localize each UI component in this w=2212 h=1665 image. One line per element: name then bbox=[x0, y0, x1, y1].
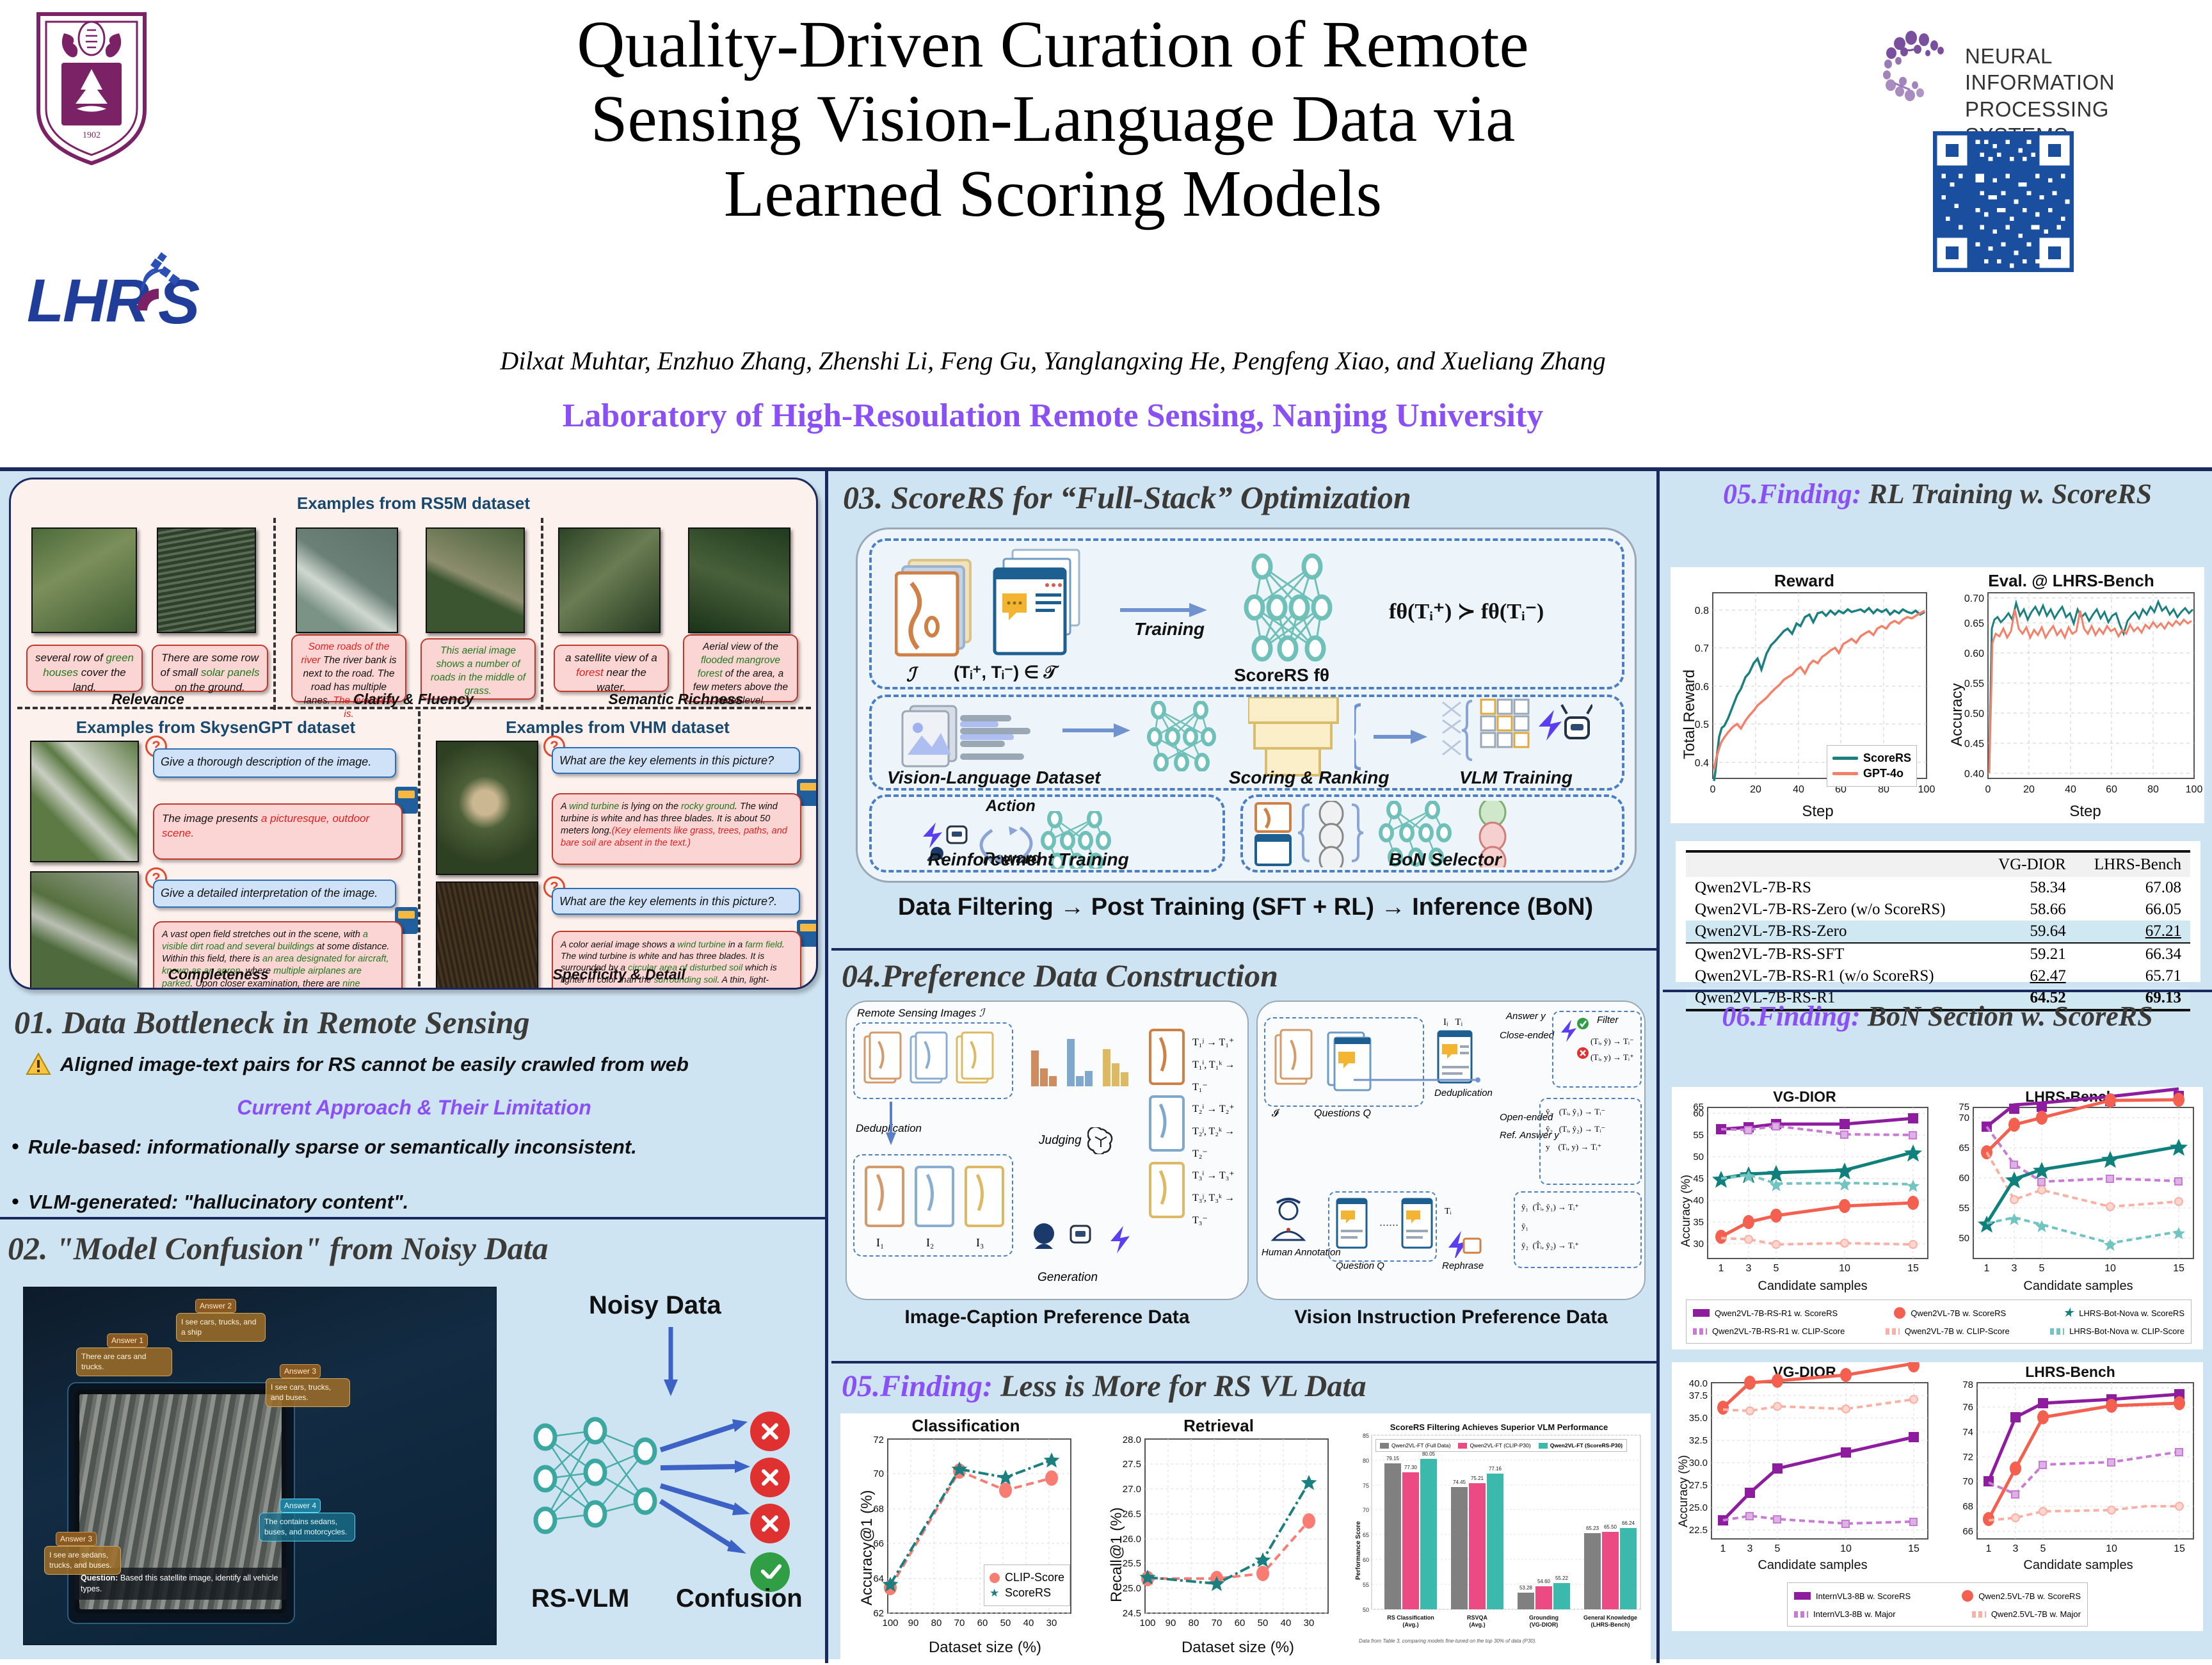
table-row: Qwen2VL-7B-RS-Zero59.6467.21 bbox=[1686, 921, 2190, 943]
svg-text:(LHRS-Bench): (LHRS-Bench) bbox=[1591, 1621, 1630, 1628]
svg-text:3: 3 bbox=[2012, 1263, 2017, 1274]
table-cell-value: 67.21 bbox=[2075, 921, 2190, 943]
svg-text:90: 90 bbox=[908, 1618, 919, 1629]
section-04-preference-data: 04.Preference Data Construction Remote S… bbox=[831, 948, 1660, 1358]
svg-text:30: 30 bbox=[1304, 1618, 1315, 1629]
scorers-filtering-bar-chart: ScoreRS Filtering Achieves Superior VLM … bbox=[1350, 1420, 1648, 1657]
section-05-mid-title: 05.Finding: Less is More for RS VL Data bbox=[842, 1370, 1660, 1403]
section-05-rl-training: 05.Finding: RL Training w. ScoreRS Rewar… bbox=[1663, 471, 2212, 830]
svg-text:90: 90 bbox=[1166, 1618, 1176, 1629]
svg-text:0: 0 bbox=[1985, 784, 1991, 795]
bon-top-legend: Qwen2VL-7B-RS-R1 w. ScoreRS Qwen2VL-7B w… bbox=[1686, 1299, 2192, 1344]
svg-text:S: S bbox=[158, 266, 200, 337]
svg-text:70: 70 bbox=[954, 1618, 965, 1629]
question-bubble: Give a detailed interpretation of the im… bbox=[153, 880, 396, 908]
down-arrow-icon bbox=[884, 1102, 898, 1146]
bracket-arrow-icon bbox=[1354, 701, 1431, 771]
svg-text:0.55: 0.55 bbox=[1964, 679, 1984, 689]
svg-text:0.6: 0.6 bbox=[1695, 682, 1709, 693]
bon-top-charts: VG-DIOR Accuracy (%) Candidate samples 3… bbox=[1672, 1087, 2203, 1349]
bullet-dot-icon: • bbox=[12, 1191, 19, 1212]
rs5m-heading: Examples from RS5M dataset bbox=[11, 494, 816, 513]
results-table: VG-DIOR LHRS-Bench Qwen2VL-7B-RS58.3467.… bbox=[1686, 850, 2190, 1011]
criterion-label: Completeness bbox=[26, 966, 410, 983]
svg-text:68: 68 bbox=[1962, 1501, 1973, 1512]
section-03-title: 03. ScoreRS for “Full-Stack” Optimizatio… bbox=[843, 480, 1660, 515]
table-cell-value: 65.71 bbox=[2075, 965, 2190, 987]
svg-text:60: 60 bbox=[2106, 784, 2117, 795]
skysengpt-heading: Examples from SkysenGPT dataset bbox=[17, 718, 414, 737]
svg-text:35: 35 bbox=[1693, 1217, 1704, 1228]
down-arrow-icon bbox=[663, 1327, 678, 1397]
svg-text:65: 65 bbox=[1363, 1532, 1369, 1538]
svg-text:70: 70 bbox=[873, 1468, 884, 1479]
question-cards-icon: ...... bbox=[1334, 1196, 1437, 1258]
filter-formulas: (Tᵢ, ŷ) → Tᵢ⁻(Tᵢ, y) → Tᵢ⁺ bbox=[1591, 1034, 1634, 1065]
fullstack-pipeline-diagram: ℐ (Tᵢ⁺, Tᵢ⁻) ∈ 𝒯 Training bbox=[856, 527, 1637, 883]
image-1-label: I₁ bbox=[876, 1236, 884, 1250]
filter-label: Filter bbox=[1597, 1015, 1618, 1026]
svg-text:65.50: 65.50 bbox=[1604, 1524, 1617, 1530]
bon-vgdior-top-plot: 303540 45505560 65 135 1015 bbox=[1672, 1087, 1937, 1298]
svg-text:65: 65 bbox=[1693, 1102, 1704, 1113]
svg-text:65: 65 bbox=[1959, 1143, 1969, 1154]
symbol-preference-pairs: (Tᵢ⁺, Tᵢ⁻) ∈ 𝒯 bbox=[954, 663, 1057, 683]
rephrase-icon bbox=[1442, 1219, 1488, 1258]
question-bubble: Give a thorough description of the image… bbox=[153, 748, 396, 778]
criterion-label: Clarify & Fluency bbox=[291, 691, 536, 708]
image-group-icon bbox=[861, 1029, 1008, 1093]
svg-text:70: 70 bbox=[1212, 1618, 1222, 1629]
svg-text:70: 70 bbox=[1363, 1507, 1369, 1513]
scorers-label: ScoreRS fθ bbox=[1234, 665, 1329, 686]
svg-text:1: 1 bbox=[1720, 1543, 1726, 1554]
legend-label: GPT-4o bbox=[1863, 767, 1903, 780]
svg-text:65.23: 65.23 bbox=[1586, 1525, 1599, 1531]
bon-stage-label: BoN Selector bbox=[1389, 849, 1502, 870]
question-bubble: What are the key elements in this pictur… bbox=[552, 888, 800, 915]
svg-text:0.4: 0.4 bbox=[1695, 758, 1709, 769]
svg-text:40: 40 bbox=[1693, 1195, 1704, 1206]
nju-year: 1902 bbox=[83, 131, 100, 140]
example-image-4 bbox=[426, 527, 525, 633]
svg-text:15: 15 bbox=[1907, 1263, 1919, 1274]
filter-check-icons bbox=[1556, 1015, 1594, 1085]
bullet-dot-icon: • bbox=[12, 1136, 19, 1157]
bon-lhrs-bottom-chart: LHRS-Bench Candidate samples 666870 7 bbox=[1937, 1362, 2203, 1580]
images-and-questions-icon bbox=[1272, 1024, 1425, 1100]
confusion-label: Confusion bbox=[676, 1584, 803, 1613]
section-06-title: 06.Finding: BoN Section w. ScoreRS bbox=[1663, 992, 2212, 1032]
svg-text:40: 40 bbox=[1281, 1618, 1292, 1629]
right-column: 05.Finding: RL Training w. ScoreRS Rewar… bbox=[1663, 471, 2212, 1663]
legend-label: Qwen2VL-7B-RS-R1 w. ScoreRS bbox=[1715, 1308, 1838, 1318]
svg-text:60: 60 bbox=[1959, 1173, 1969, 1184]
legend-marker-clip bbox=[990, 1573, 1000, 1583]
divider-4 bbox=[418, 711, 421, 986]
svg-text:37.5: 37.5 bbox=[1689, 1390, 1708, 1401]
bon-lhrs-top-chart: LHRS-Bench Candidate samples 505560 6570… bbox=[1937, 1087, 2203, 1298]
vlm-training-icon bbox=[1439, 698, 1592, 775]
flow-connector-icon bbox=[1354, 1074, 1482, 1086]
limitation-1: Rule-based: informationally sparse or se… bbox=[28, 1136, 637, 1159]
answer-tag: Answer 2 bbox=[195, 1299, 236, 1313]
svg-text:74: 74 bbox=[1962, 1427, 1973, 1438]
svg-text:80: 80 bbox=[2147, 784, 2159, 795]
svg-text:24.5: 24.5 bbox=[1123, 1608, 1141, 1619]
svg-text:5: 5 bbox=[1774, 1263, 1779, 1274]
table-cell-model: Qwen2VL-7B-RS-R1 (w/o ScoreRS) bbox=[1686, 965, 1981, 987]
svg-text:35.0: 35.0 bbox=[1689, 1413, 1708, 1424]
section-04-number: 04. bbox=[842, 958, 882, 993]
caption-box: There are some row of small solar panels… bbox=[152, 645, 268, 692]
page-title: Quality-Driven Curation of Remote Sensin… bbox=[269, 8, 1837, 231]
symbol-I: 𝓘 bbox=[1272, 1108, 1279, 1120]
svg-text:10: 10 bbox=[2104, 1263, 2116, 1274]
svg-text:80: 80 bbox=[1189, 1618, 1199, 1629]
results-table-panel: VG-DIOR LHRS-Bench Qwen2VL-7B-RS58.3467.… bbox=[1676, 841, 2200, 982]
table-cell-value: 67.08 bbox=[2075, 877, 2190, 899]
section-01-data-bottleneck: 01. Data Bottleneck in Remote Sensing Al… bbox=[0, 996, 828, 1233]
answer-text: I see cars, trucks, and buses. bbox=[266, 1378, 350, 1407]
svg-text:100: 100 bbox=[1918, 784, 1935, 795]
generation-label: Generation bbox=[1038, 1271, 1098, 1285]
bon-bottom-charts: VG-DIOR Accuracy (%) Candidate samples 2… bbox=[1672, 1362, 2203, 1631]
wrong-answer-icon bbox=[750, 1458, 790, 1497]
svg-text:RSVQA: RSVQA bbox=[1467, 1614, 1488, 1621]
question-Q-label: Question Q bbox=[1336, 1260, 1384, 1271]
training-label: Training bbox=[1134, 619, 1205, 639]
qr-code[interactable] bbox=[1933, 131, 2074, 272]
svg-text:27.5: 27.5 bbox=[1123, 1459, 1141, 1470]
legend-label: Qwen2VL-7B-RS-R1 w. CLIP-Score bbox=[1712, 1326, 1845, 1336]
bon-vgdior-bottom-plot: 22.525.027.5 30.032.535.0 37.540.0 135 1… bbox=[1672, 1362, 1937, 1580]
col-header-vgdior: VG-DIOR bbox=[1981, 851, 2075, 877]
table-cell-model: Qwen2VL-7B-RS-Zero (w/o ScoreRS) bbox=[1686, 899, 1981, 921]
answer-text: I see are sedans, trucks, and buses. bbox=[44, 1546, 121, 1575]
vision-instruction-pref-caption: Vision Instruction Preference Data bbox=[1254, 1307, 1648, 1328]
svg-text:55: 55 bbox=[1959, 1203, 1969, 1214]
svg-text:60: 60 bbox=[977, 1618, 988, 1629]
svg-text:77.16: 77.16 bbox=[1489, 1466, 1502, 1472]
svg-text:54.60: 54.60 bbox=[1537, 1579, 1551, 1584]
svg-text:0.50: 0.50 bbox=[1964, 709, 1984, 720]
answer-bubble: A wind turbine is lying on the rocky gro… bbox=[552, 793, 801, 865]
example-image-1 bbox=[31, 527, 137, 633]
neurips-logo-icon: NEURAL INFORMATION PROCESSING SYSTEMS bbox=[1882, 29, 2183, 112]
svg-text:10: 10 bbox=[1839, 1263, 1850, 1274]
example-image-6 bbox=[688, 527, 790, 633]
legend-label: ScoreRS bbox=[1863, 752, 1911, 765]
vhm-heading: Examples from VHM dataset bbox=[423, 718, 812, 737]
generator-models-icon bbox=[1030, 1213, 1139, 1258]
section-05-right-heading: RL Training w. ScoreRS bbox=[1861, 478, 2152, 510]
svg-text:0.8: 0.8 bbox=[1695, 606, 1709, 616]
svg-text:55.22: 55.22 bbox=[1555, 1575, 1569, 1581]
right-arrow-icon bbox=[1062, 721, 1133, 739]
noisy-data-label: Noisy Data bbox=[589, 1291, 721, 1320]
table-row: Qwen2VL-7B-RS-R1 (w/o ScoreRS)62.4765.71 bbox=[1686, 965, 2190, 987]
legend-label: Qwen2VL-FT (ScoreRS-P30) bbox=[1550, 1442, 1623, 1449]
svg-text:3: 3 bbox=[1747, 1543, 1753, 1554]
section-06-heading: BoN Section w. ScoreRS bbox=[1861, 1001, 2153, 1032]
svg-text:0.45: 0.45 bbox=[1964, 739, 1984, 750]
section-05-mid-number: 05.Finding: bbox=[842, 1369, 993, 1403]
pipeline-caption: Data Filtering → Post Training (SFT + RL… bbox=[831, 894, 1660, 921]
example-image-3 bbox=[296, 527, 398, 633]
svg-text:75: 75 bbox=[1363, 1483, 1369, 1489]
affiliation: Laboratory of High-Resoulation Remote Se… bbox=[269, 397, 1837, 435]
svg-text:1: 1 bbox=[1719, 1263, 1724, 1274]
rl-charts: Reward Total Reward Step 0.40.50.6 0.70.… bbox=[1671, 567, 2204, 823]
svg-text:64: 64 bbox=[873, 1573, 884, 1584]
answer-text: The contains sedans, buses, and motorcyc… bbox=[259, 1513, 355, 1541]
right-arrow-icon bbox=[1120, 601, 1210, 619]
svg-text:50: 50 bbox=[1000, 1618, 1011, 1629]
current-approach-subheading: Current Approach & Their Limitation bbox=[0, 1096, 828, 1120]
answer-text: I see cars, trucks, and a ship bbox=[176, 1313, 266, 1342]
example-image-7 bbox=[30, 741, 139, 862]
legend-label: InternVL3-8B w. ScoreRS bbox=[1816, 1591, 1911, 1601]
question-label: Question: bbox=[81, 1573, 118, 1582]
scorers-network-icon bbox=[1229, 549, 1350, 668]
svg-text:45: 45 bbox=[1693, 1173, 1704, 1184]
preference-formula: fθ(Tᵢ⁺) ≻ fθ(Tᵢ⁻) bbox=[1389, 599, 1544, 624]
formula-group-2: T₂ⁱ → T₂⁺T₂ʲ, T₂ᵏ → T₂⁻ bbox=[1192, 1098, 1247, 1166]
svg-text:30.0: 30.0 bbox=[1689, 1458, 1708, 1468]
nanjing-university-logo-icon: 1902 bbox=[31, 8, 152, 168]
symbol-image-set: ℐ bbox=[906, 664, 915, 686]
wrong-answer-icon bbox=[750, 1412, 790, 1451]
svg-text:......: ...... bbox=[1379, 1216, 1399, 1228]
svg-text:72: 72 bbox=[1962, 1452, 1973, 1463]
rephrase-label: Rephrase bbox=[1442, 1260, 1484, 1271]
svg-text:40: 40 bbox=[2065, 784, 2076, 795]
svg-text:20: 20 bbox=[1750, 784, 1761, 795]
svg-text:76: 76 bbox=[1962, 1402, 1973, 1413]
criterion-label: Specificity & Detail bbox=[427, 966, 811, 983]
list-item: • VLM-generated: "hallucinatory content"… bbox=[12, 1191, 818, 1214]
reward-chart: Reward Total Reward Step 0.40.50.6 0.70.… bbox=[1671, 567, 1938, 823]
svg-text:25.5: 25.5 bbox=[1123, 1558, 1141, 1569]
remote-sensing-images-label: Remote Sensing Images ℐ bbox=[857, 1007, 984, 1020]
retrieval-plot: 24.525.025.5 26.026.527.0 27.528.0 10090… bbox=[1094, 1413, 1343, 1659]
svg-text:0.5: 0.5 bbox=[1695, 720, 1709, 730]
example-image-9 bbox=[436, 741, 538, 875]
table-cell-model: Qwen2VL-7B-RS bbox=[1686, 877, 1981, 899]
deduplication-label-right: Deduplication bbox=[1434, 1088, 1493, 1098]
legend-marker-scorers: ★ bbox=[990, 1588, 1000, 1598]
svg-text:72: 72 bbox=[873, 1435, 884, 1445]
answer-bubble: The image presents a picturesque, outdoo… bbox=[153, 803, 403, 860]
legend-label: Qwen2.5VL-7B w. ScoreRS bbox=[1978, 1591, 2081, 1601]
rl-stage-label: Reinforcement Training bbox=[928, 849, 1129, 870]
table-row: Qwen2VL-7B-RS58.3467.08 bbox=[1686, 877, 2190, 899]
section-06-number: 06.Finding: bbox=[1722, 1001, 1860, 1032]
svg-text:80.05: 80.05 bbox=[1422, 1451, 1436, 1457]
svg-text:0.60: 0.60 bbox=[1964, 648, 1984, 659]
answer-tag: Answer 4 bbox=[280, 1499, 321, 1513]
svg-text:25.0: 25.0 bbox=[1123, 1583, 1141, 1594]
openai-logo-icon bbox=[1087, 1127, 1114, 1154]
image-caption-pref-caption: Image-Caption Preference Data bbox=[844, 1307, 1250, 1328]
section-02-heading: "Model Confusion" from Noisy Data bbox=[48, 1230, 549, 1266]
caption-box: a satellite view of a forest near the wa… bbox=[554, 645, 669, 692]
svg-text:100: 100 bbox=[1139, 1618, 1155, 1629]
svg-text:30: 30 bbox=[1693, 1239, 1704, 1250]
list-item: • Rule-based: informationally sparse or … bbox=[12, 1136, 818, 1159]
example-image-5 bbox=[558, 527, 661, 633]
image-2-label: I₂ bbox=[926, 1236, 934, 1250]
vision-instruction-pref-diagram: 𝓘 Questions Q Iᵢ Tᵢ Deduplication Answer… bbox=[1256, 1001, 1646, 1300]
ranking-funnel-icon bbox=[1248, 697, 1344, 776]
question-bubble: What are the key elements in this pictur… bbox=[552, 747, 800, 774]
svg-text:32.5: 32.5 bbox=[1689, 1435, 1708, 1446]
table-cell-model: Qwen2VL-7B-RS-Zero bbox=[1686, 921, 1981, 943]
criterion-label: Relevance bbox=[26, 691, 269, 708]
close-ended-label: Close-ended bbox=[1500, 1030, 1554, 1041]
bar-chart-note: Data from Table 3, comparing models fine… bbox=[1359, 1638, 1537, 1644]
svg-text:10: 10 bbox=[2106, 1543, 2117, 1554]
table-row: Qwen2VL-7B-RS-Zero (w/o ScoreRS)58.6666.… bbox=[1686, 899, 2190, 921]
answer-y-label: Answer y bbox=[1506, 1011, 1546, 1022]
table-cell-value: 59.64 bbox=[1981, 921, 2075, 943]
table-cell-value: 66.34 bbox=[2075, 943, 2190, 965]
svg-text:74.45: 74.45 bbox=[1453, 1479, 1466, 1485]
middle-column: 03. ScoreRS for “Full-Stack” Optimizatio… bbox=[831, 471, 1660, 1663]
bon-lhrs-top-plot: 505560 657075 135 1015 bbox=[1937, 1087, 2203, 1298]
svg-text:3: 3 bbox=[2013, 1543, 2019, 1554]
chart-legend: ScoreRS GPT-4o bbox=[1827, 745, 1917, 787]
section-02-number: 02. bbox=[8, 1230, 48, 1266]
legend-label: Qwen2VL-7B w. CLIP-Score bbox=[1905, 1326, 2010, 1336]
title-line-2: Sensing Vision-Language Data via bbox=[269, 82, 1837, 156]
section-05-right-title: 05.Finding: RL Training w. ScoreRS bbox=[1663, 471, 2212, 510]
Ii-Ti-labels: Iᵢ Tᵢ bbox=[1443, 1017, 1463, 1028]
svg-text:40: 40 bbox=[1023, 1618, 1034, 1629]
svg-text:RS Classification: RS Classification bbox=[1387, 1614, 1434, 1621]
svg-text:60: 60 bbox=[1363, 1557, 1369, 1563]
svg-text:5: 5 bbox=[2040, 1543, 2046, 1554]
judging-label: Judging bbox=[1039, 1134, 1082, 1148]
svg-text:40: 40 bbox=[1793, 784, 1804, 795]
bar-plot: 505560 657075 8085 bbox=[1350, 1420, 1648, 1657]
warning-text: Aligned image-text pairs for RS cannot b… bbox=[60, 1053, 689, 1076]
legend-label: LHRS-Bot-Nova w. ScoreRS bbox=[2079, 1308, 2184, 1318]
svg-text:79.15: 79.15 bbox=[1386, 1456, 1400, 1461]
chart-legend: CLIP-Score ★ ScoreRS bbox=[984, 1564, 1070, 1606]
neurips-line-1: NEURAL INFORMATION bbox=[1965, 43, 2183, 96]
svg-text:26.0: 26.0 bbox=[1123, 1534, 1141, 1545]
svg-text:(VG-DIOR): (VG-DIOR) bbox=[1530, 1621, 1559, 1628]
section-03-number: 03. bbox=[843, 479, 883, 515]
section-06-bon-selection: 06.Finding: BoN Section w. ScoreRS VG-DI… bbox=[1663, 990, 2212, 1663]
text-documents-icon bbox=[986, 549, 1101, 664]
table-cell-value: 58.34 bbox=[1981, 877, 2075, 899]
poster-body: Examples from RS5M dataset several row o… bbox=[0, 467, 2212, 1659]
svg-text:20: 20 bbox=[2023, 784, 2035, 795]
image-3-label: I₃ bbox=[976, 1236, 984, 1250]
dataset-examples-card: Examples from RS5M dataset several row o… bbox=[9, 478, 818, 990]
svg-text:25.0: 25.0 bbox=[1689, 1502, 1708, 1513]
svg-text:50: 50 bbox=[1959, 1233, 1969, 1244]
svg-text:15: 15 bbox=[2173, 1263, 2184, 1274]
svg-text:1: 1 bbox=[1984, 1263, 1990, 1274]
rs-vlm-label: RS-VLM bbox=[531, 1584, 629, 1613]
svg-text:3: 3 bbox=[1746, 1263, 1752, 1274]
svg-text:100: 100 bbox=[882, 1618, 898, 1629]
answer-tag: Answer 3 bbox=[56, 1532, 97, 1546]
Ti-label: Tᵢ bbox=[1445, 1207, 1452, 1217]
answer-tag: Answer 3 bbox=[280, 1364, 321, 1378]
svg-text:75: 75 bbox=[1959, 1102, 1969, 1113]
section-05-mid-heading: Less is More for RS VL Data bbox=[993, 1369, 1366, 1403]
table-cell-value: 58.66 bbox=[1981, 899, 2075, 921]
svg-text:40.0: 40.0 bbox=[1689, 1378, 1708, 1389]
bon-bottom-legend: InternVL3-8B w. ScoreRS Qwen2.5VL-7B w. … bbox=[1787, 1582, 2088, 1627]
bon-lhrs-bottom-plot: 666870 72747678 135 1015 bbox=[1937, 1362, 2203, 1580]
author-list: Dilxat Muhtar, Enzhuo Zhang, Zhenshi Li,… bbox=[269, 346, 1837, 376]
legend-label: CLIP-Score bbox=[1005, 1571, 1064, 1584]
poster-header: 1902 LHR S Quality-Driven Curation of Re… bbox=[0, 0, 2212, 467]
svg-text:Grounding: Grounding bbox=[1529, 1614, 1559, 1621]
svg-text:85: 85 bbox=[1363, 1433, 1369, 1439]
bon-vgdior-bottom-chart: VG-DIOR Accuracy (%) Candidate samples 2… bbox=[1672, 1362, 1937, 1580]
less-is-more-charts: Classification Accuracy@1 (%) Dataset si… bbox=[840, 1413, 1651, 1659]
image-caption-pref-diagram: Remote Sensing Images ℐ Deduplication bbox=[846, 1001, 1249, 1300]
table-row: Qwen2VL-7B-RS-SFT59.2166.34 bbox=[1686, 943, 2190, 965]
svg-text:80: 80 bbox=[931, 1618, 942, 1629]
svg-text:15: 15 bbox=[1908, 1543, 1919, 1554]
svg-text:68: 68 bbox=[873, 1504, 884, 1515]
example-image-2 bbox=[157, 527, 256, 633]
eval-plot: 0.400.450.50 0.550.600.65 0.70 02040 608… bbox=[1938, 567, 2204, 823]
svg-text:0.65: 0.65 bbox=[1964, 618, 1984, 629]
scoring-network-icon bbox=[1139, 701, 1235, 771]
classification-plot: 626466 687072 1009080 706050 4030 bbox=[844, 1413, 1087, 1659]
svg-text:70: 70 bbox=[1959, 1113, 1969, 1123]
warning-triangle-icon bbox=[26, 1052, 51, 1077]
image-stack-icon bbox=[895, 558, 991, 660]
section-05-right-number: 05.Finding: bbox=[1723, 478, 1861, 510]
svg-text:66: 66 bbox=[1962, 1526, 1973, 1537]
svg-text:50: 50 bbox=[1693, 1152, 1704, 1162]
limitation-2: VLM-generated: "hallucinatory content". bbox=[28, 1191, 408, 1214]
section-01-heading: Data Bottleneck in Remote Sensing bbox=[54, 1004, 530, 1040]
deduped-images-icon bbox=[862, 1163, 1008, 1234]
score-histograms-icon bbox=[1030, 1031, 1139, 1095]
model-confusion-illustration: Question: Based this satellite image, id… bbox=[23, 1287, 497, 1645]
svg-text:55: 55 bbox=[1693, 1130, 1704, 1141]
table-cell-value: 62.47 bbox=[1981, 965, 2075, 987]
svg-text:0: 0 bbox=[1710, 784, 1716, 795]
col-header-lhrsbench: LHRS-Bench bbox=[2075, 851, 2190, 877]
vl-dataset-icon bbox=[896, 704, 1043, 768]
table-header-row: VG-DIOR LHRS-Bench bbox=[1686, 851, 2190, 877]
stage-label-scoring: Scoring & Ranking bbox=[1229, 768, 1389, 788]
legend-label: InternVL3-8B w. Major bbox=[1813, 1609, 1896, 1619]
formula-group-3: T₃ⁱ → T₃⁺T₃ʲ, T₃ᵏ → T₃⁻ bbox=[1192, 1164, 1247, 1232]
legend-label: Qwen2VL-7B w. ScoreRS bbox=[1911, 1308, 2006, 1318]
svg-text:27.0: 27.0 bbox=[1123, 1484, 1141, 1495]
table-cell-value: 66.05 bbox=[2075, 899, 2190, 921]
answer-text: There are cars and trucks. bbox=[76, 1347, 172, 1376]
svg-text:30: 30 bbox=[1046, 1618, 1057, 1629]
sampled-images-icon bbox=[1148, 1027, 1186, 1219]
svg-text:10: 10 bbox=[1840, 1543, 1852, 1554]
col-header-blank bbox=[1686, 851, 1981, 877]
classification-chart: Classification Accuracy@1 (%) Dataset si… bbox=[844, 1413, 1087, 1659]
